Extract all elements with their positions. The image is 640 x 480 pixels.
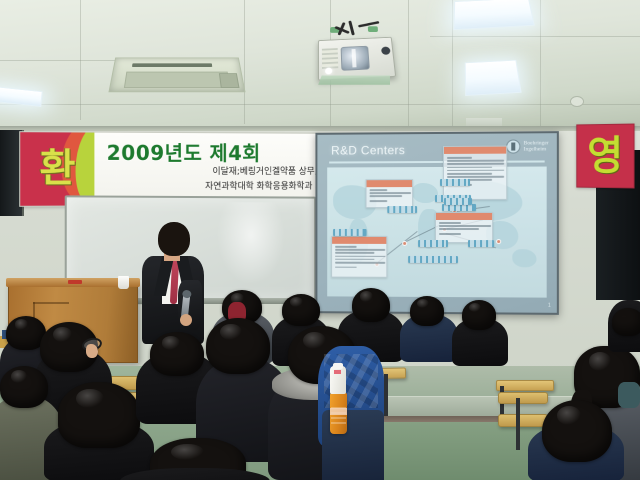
callout-germany (443, 146, 507, 200)
city-label-milan (333, 229, 366, 236)
ceiling-air-conditioner (108, 58, 245, 93)
banner-title: 2009년도 제4회 (107, 137, 316, 166)
slide-title-underline (329, 160, 544, 163)
logo-text-line2: Ingelheim (524, 146, 549, 152)
presentation-slide: R&D Centers Boehringer Ingelheim (317, 133, 556, 313)
city-label-germany (440, 179, 470, 186)
city-label-kobe (468, 240, 494, 247)
chair-leg (516, 398, 520, 450)
slide-title: R&D Centers (331, 143, 405, 157)
audience-head-foreground (58, 382, 140, 448)
audience-head (0, 366, 48, 408)
presenter-hand (180, 314, 192, 326)
logo-mark-icon (506, 139, 520, 153)
audience-head (612, 308, 640, 336)
callout-vienna-austria (435, 212, 493, 243)
fluorescent-light-right (465, 60, 522, 96)
audience-head (206, 318, 270, 374)
city-label-shanghai (418, 240, 448, 247)
boehringer-ingelheim-logo: Boehringer Ingelheim (506, 139, 548, 153)
desk-right-upper (496, 380, 554, 391)
audience-head (282, 294, 320, 326)
banner-char-hwan: 환 (31, 140, 85, 195)
lecture-hall-photo: 환 2009년도 제4회 이달재;베링거인겔약품 상무, 자연과학대학 화학응용… (0, 0, 640, 480)
city-label-footer (408, 256, 458, 263)
audience-head (150, 332, 204, 376)
banner-char-yeong: 영 (577, 125, 633, 188)
audience-head (462, 300, 496, 330)
welcome-banner-right: 영 (576, 124, 634, 189)
smoke-detector-icon (570, 96, 584, 107)
projector-tray (318, 76, 390, 85)
juice-bottle (330, 392, 347, 434)
chair-right-upper (498, 392, 548, 404)
audience-head-foreground-right (542, 400, 612, 462)
banner-subtitle-line2: 자연과학대학 화학응용화학과 오 (205, 179, 323, 192)
slide-page-number: 1 (548, 303, 551, 309)
projector-lens (341, 46, 370, 71)
chair-right-lower (498, 414, 548, 427)
bottle-cap (333, 363, 343, 369)
audience-head (352, 288, 390, 322)
projection-screen: R&D Centers Boehringer Ingelheim (315, 131, 558, 315)
bottle-label-icon (334, 370, 341, 374)
audience-collar (618, 382, 640, 408)
city-label-laval (387, 206, 417, 213)
presenter-speaker (138, 222, 216, 342)
red-marker (68, 280, 82, 284)
presenter-head (158, 222, 190, 256)
city-label-reims (444, 198, 472, 205)
projector-knob (381, 46, 391, 54)
callout-ridgefield-usa (331, 236, 387, 278)
paper-cup (118, 276, 129, 289)
audience-head (410, 296, 444, 326)
projector-power-led (325, 67, 332, 74)
ceiling-projector (318, 37, 396, 81)
banner-subtitle-line1: 이달재;베링거인겔약품 상무, (212, 164, 317, 177)
audience-cheek (86, 344, 98, 358)
callout-laval-canada (366, 179, 414, 208)
fluorescent-light-top-right (453, 0, 534, 30)
desk-leg (384, 374, 388, 416)
